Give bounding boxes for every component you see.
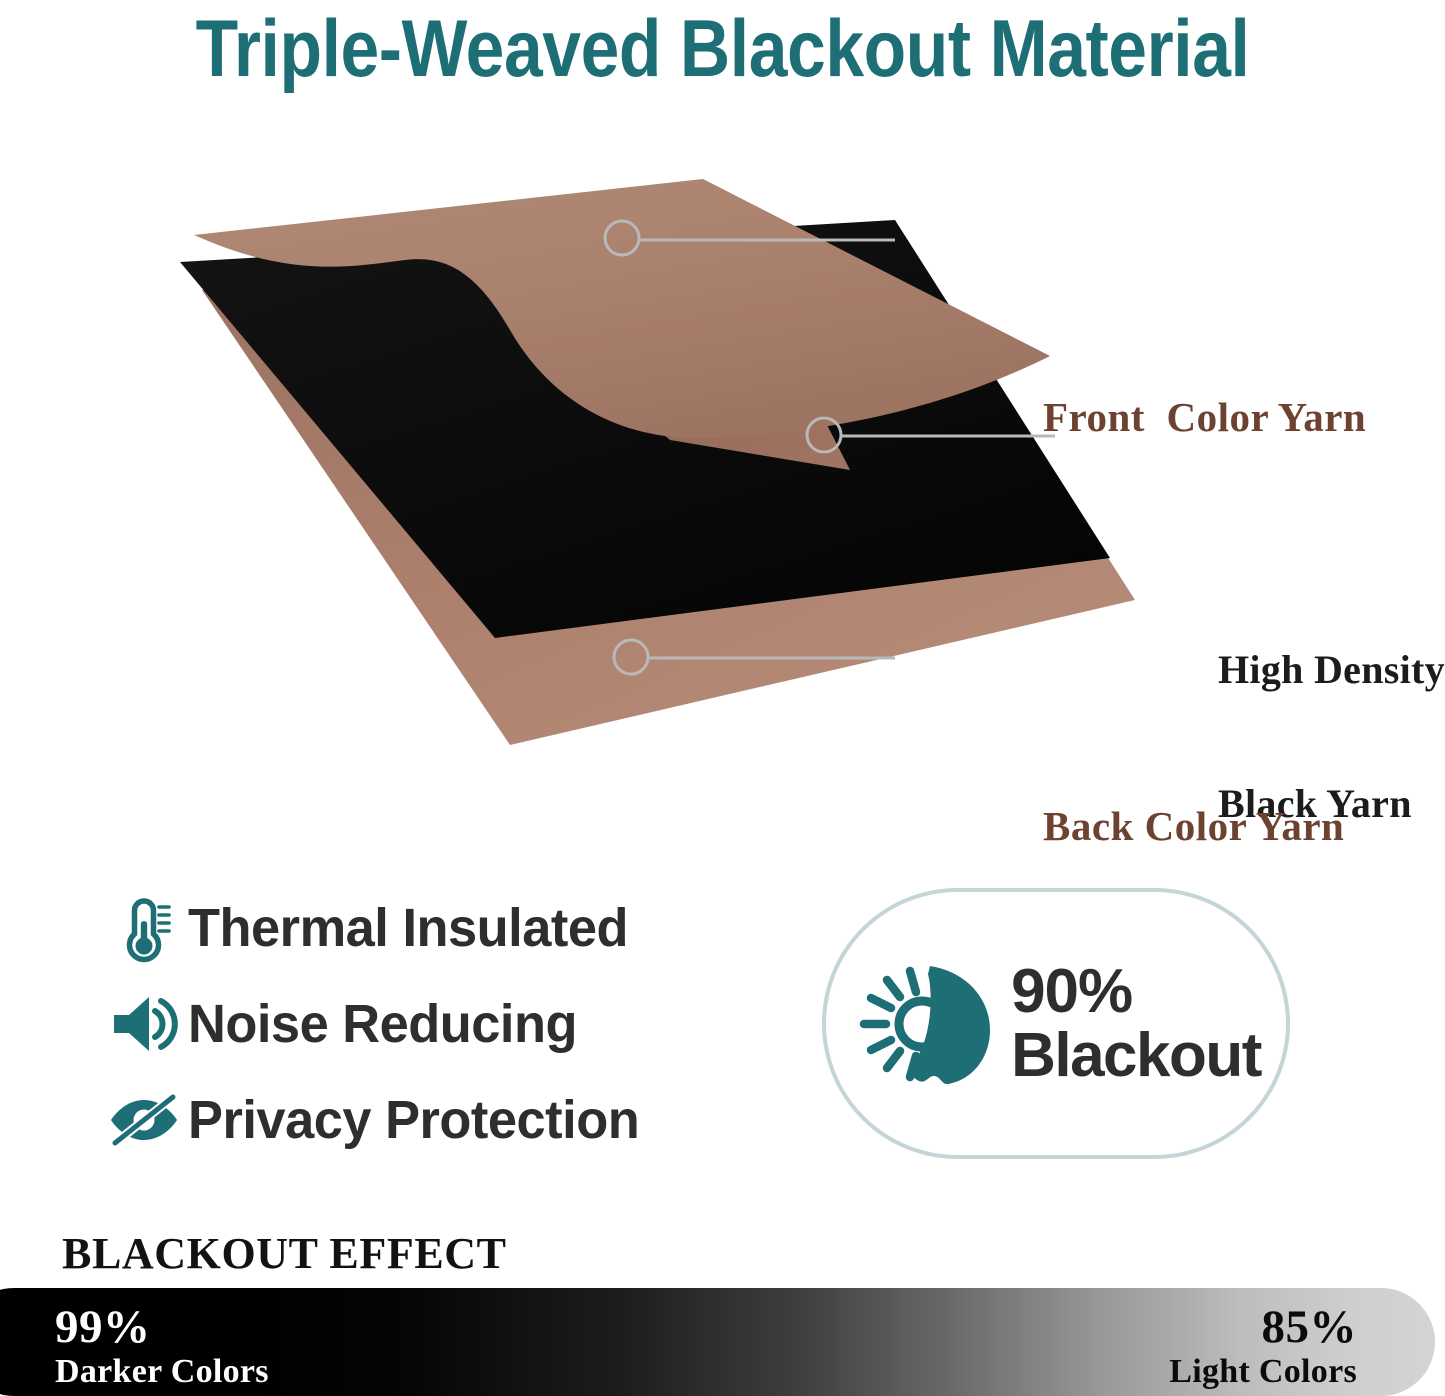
feature-label-thermal-insulated: Thermal Insulated [188,897,628,959]
feature-list: Thermal Insulated Noise Reducing Privacy… [100,880,750,1168]
feature-item-thermal-insulated: Thermal Insulated [100,880,750,976]
callout-high-density-black-yarn: High Density Black Yarn [1218,558,1445,916]
thermometer-icon [100,891,188,965]
effect-darker-percent: 99% [55,1302,151,1353]
effect-light-colors: 85% Light Colors [1169,1302,1357,1391]
badge-percent: 90% [1011,960,1132,1023]
badge-text-block: 90% Blackout [1011,960,1261,1086]
fabric-layer-diagram: Front Color Yarn High Density Black Yarn… [150,170,1310,760]
effect-darker-colors: 99% Darker Colors [55,1302,269,1391]
eye-slash-icon [100,1091,188,1149]
badge-word: Blackout [1011,1024,1261,1087]
feature-label-privacy-protection: Privacy Protection [188,1089,639,1151]
feature-item-privacy-protection: Privacy Protection [100,1072,750,1168]
feature-label-noise-reducing: Noise Reducing [188,993,577,1055]
callout-front-color-yarn: Front Color Yarn [1043,395,1366,441]
effect-light-percent: 85% [1262,1302,1358,1353]
sun-blocked-icon [851,958,1001,1090]
effect-light-sublabel: Light Colors [1169,1353,1357,1391]
page-title: Triple-Weaved Blackout Material [101,0,1344,98]
speaker-sound-icon [100,992,188,1056]
effect-darker-sublabel: Darker Colors [55,1353,269,1391]
blackout-effect-gradient-bar: 99% Darker Colors 85% Light Colors [0,1288,1435,1396]
blackout-effect-heading: BLACKOUT EFFECT [62,1228,507,1279]
callout-back-color-yarn: Back Color Yarn [1043,804,1344,850]
callout-line-1: High Density [1218,648,1445,693]
feature-item-noise-reducing: Noise Reducing [100,976,750,1072]
blackout-badge: 90% Blackout [822,888,1290,1159]
